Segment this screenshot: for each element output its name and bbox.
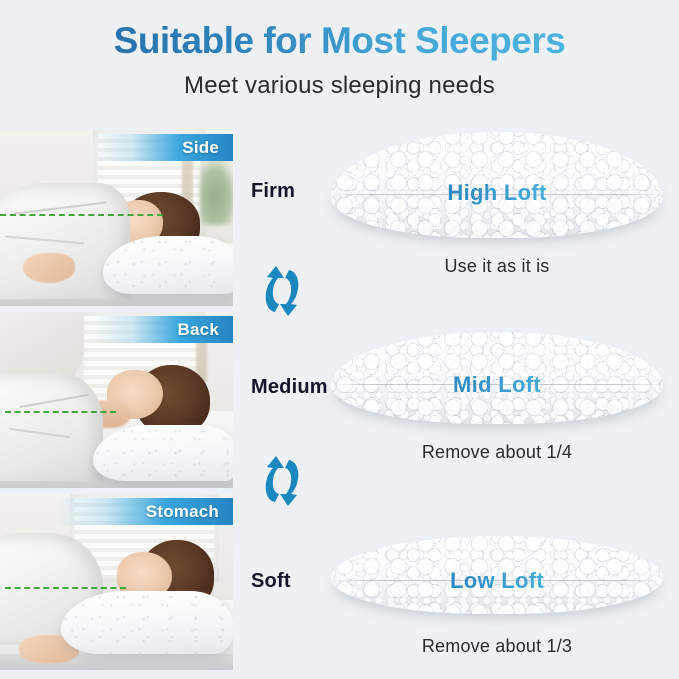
instruction-soft: Remove about 1/3 bbox=[331, 636, 663, 657]
firmness-options-column: Firm High Loft Use it as it is Medium bbox=[233, 128, 679, 679]
plant-shape bbox=[200, 155, 233, 225]
pillow-body: High Loft bbox=[331, 132, 663, 238]
sleep-position-panel-back: Back bbox=[0, 312, 233, 488]
pose-label-stomach: Stomach bbox=[55, 498, 233, 525]
loft-label-high: High Loft bbox=[331, 180, 663, 206]
neck-alignment-line-side bbox=[0, 214, 163, 216]
pillow-texture bbox=[93, 425, 233, 481]
pose-label-text: Back bbox=[178, 320, 219, 340]
pillow-texture bbox=[61, 591, 233, 654]
product-pillow-high: High Loft bbox=[331, 132, 663, 238]
content-area: Side bbox=[0, 128, 679, 679]
swap-arrows-icon-2 bbox=[259, 450, 305, 512]
instruction-medium: Remove about 1/4 bbox=[331, 442, 663, 463]
pose-label-side: Side bbox=[93, 134, 233, 161]
pillow-in-photo bbox=[93, 425, 233, 481]
pillow-body: Low Loft bbox=[331, 536, 663, 614]
pose-label-text: Side bbox=[182, 138, 219, 158]
neck-alignment-line-back bbox=[5, 411, 117, 413]
sleep-position-panel-side: Side bbox=[0, 130, 233, 306]
header-block: Suitable for Most Sleepers Meet various … bbox=[0, 0, 679, 100]
product-pillow-mid: Mid Loft bbox=[331, 332, 663, 424]
pillow-in-photo bbox=[61, 591, 233, 654]
firmness-row-firm: Firm High Loft Use it as it is bbox=[233, 128, 679, 268]
firmness-label-firm: Firm bbox=[251, 180, 295, 203]
firmness-label-medium: Medium bbox=[251, 376, 328, 399]
pose-label-text: Stomach bbox=[146, 502, 219, 522]
sleep-position-photo-column: Side bbox=[0, 128, 233, 679]
product-pillow-low: Low Loft bbox=[331, 536, 663, 614]
neck-alignment-line-stomach bbox=[5, 587, 126, 589]
firmness-row-medium: Medium Mid Loft Remove about 1/4 bbox=[233, 318, 679, 458]
page-subtitle: Meet various sleeping needs bbox=[0, 72, 679, 100]
page-title: Suitable for Most Sleepers bbox=[0, 18, 679, 64]
loft-label-low: Low Loft bbox=[331, 568, 663, 594]
pillow-body: Mid Loft bbox=[331, 332, 663, 424]
sleeper-arm bbox=[23, 253, 74, 283]
firmness-row-soft: Soft Low Loft Remove about 1/3 bbox=[233, 508, 679, 668]
firmness-label-soft: Soft bbox=[251, 570, 291, 593]
swap-arrows-icon-1 bbox=[259, 260, 305, 322]
pose-label-back: Back bbox=[93, 316, 233, 343]
sleeper-body-blanket bbox=[0, 372, 103, 481]
instruction-firm: Use it as it is bbox=[331, 256, 663, 277]
sleep-position-panel-stomach: Stomach bbox=[0, 494, 233, 670]
loft-label-mid: Mid Loft bbox=[331, 372, 663, 398]
